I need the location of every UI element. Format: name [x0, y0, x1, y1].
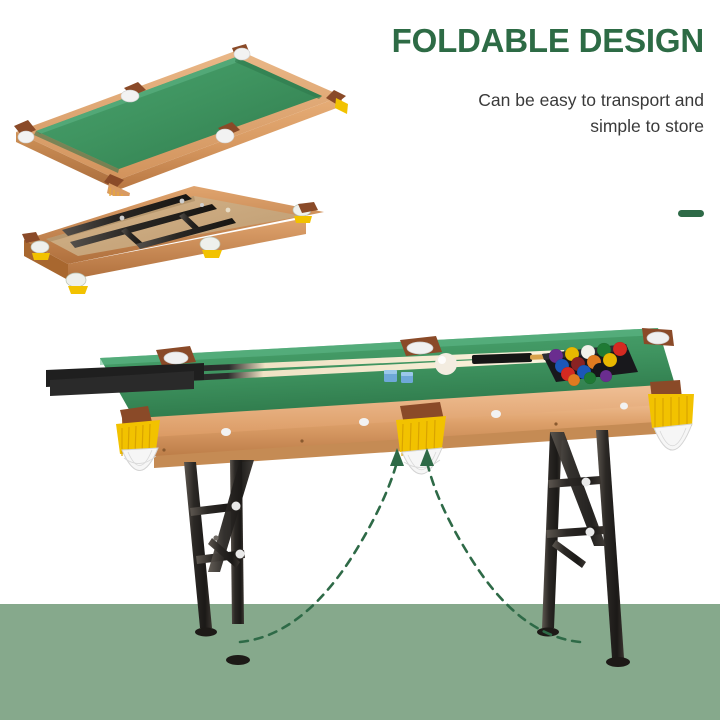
headline-block: FOLDABLE DESIGN Can be easy to transport… — [384, 24, 704, 139]
page-title: FOLDABLE DESIGN — [384, 24, 704, 59]
subtitle-line-2: simple to store — [590, 116, 704, 136]
pocket-left — [116, 420, 160, 471]
main-table-illustration — [44, 310, 704, 680]
product-view-folded-table — [6, 168, 336, 298]
accent-dash — [678, 210, 704, 217]
page-subtitle: Can be easy to transport and simple to s… — [384, 87, 704, 140]
subtitle-line-1: Can be easy to transport and — [478, 90, 704, 110]
pocket-center — [396, 416, 446, 474]
cue-ball — [435, 353, 457, 375]
product-view-main-table — [44, 310, 704, 680]
product-marketing-banner: FOLDABLE DESIGN Can be easy to transport… — [0, 0, 720, 720]
pocket-right — [648, 394, 694, 450]
legs-right — [537, 430, 630, 667]
legs-left — [184, 460, 254, 665]
folded-table-illustration — [6, 168, 336, 298]
